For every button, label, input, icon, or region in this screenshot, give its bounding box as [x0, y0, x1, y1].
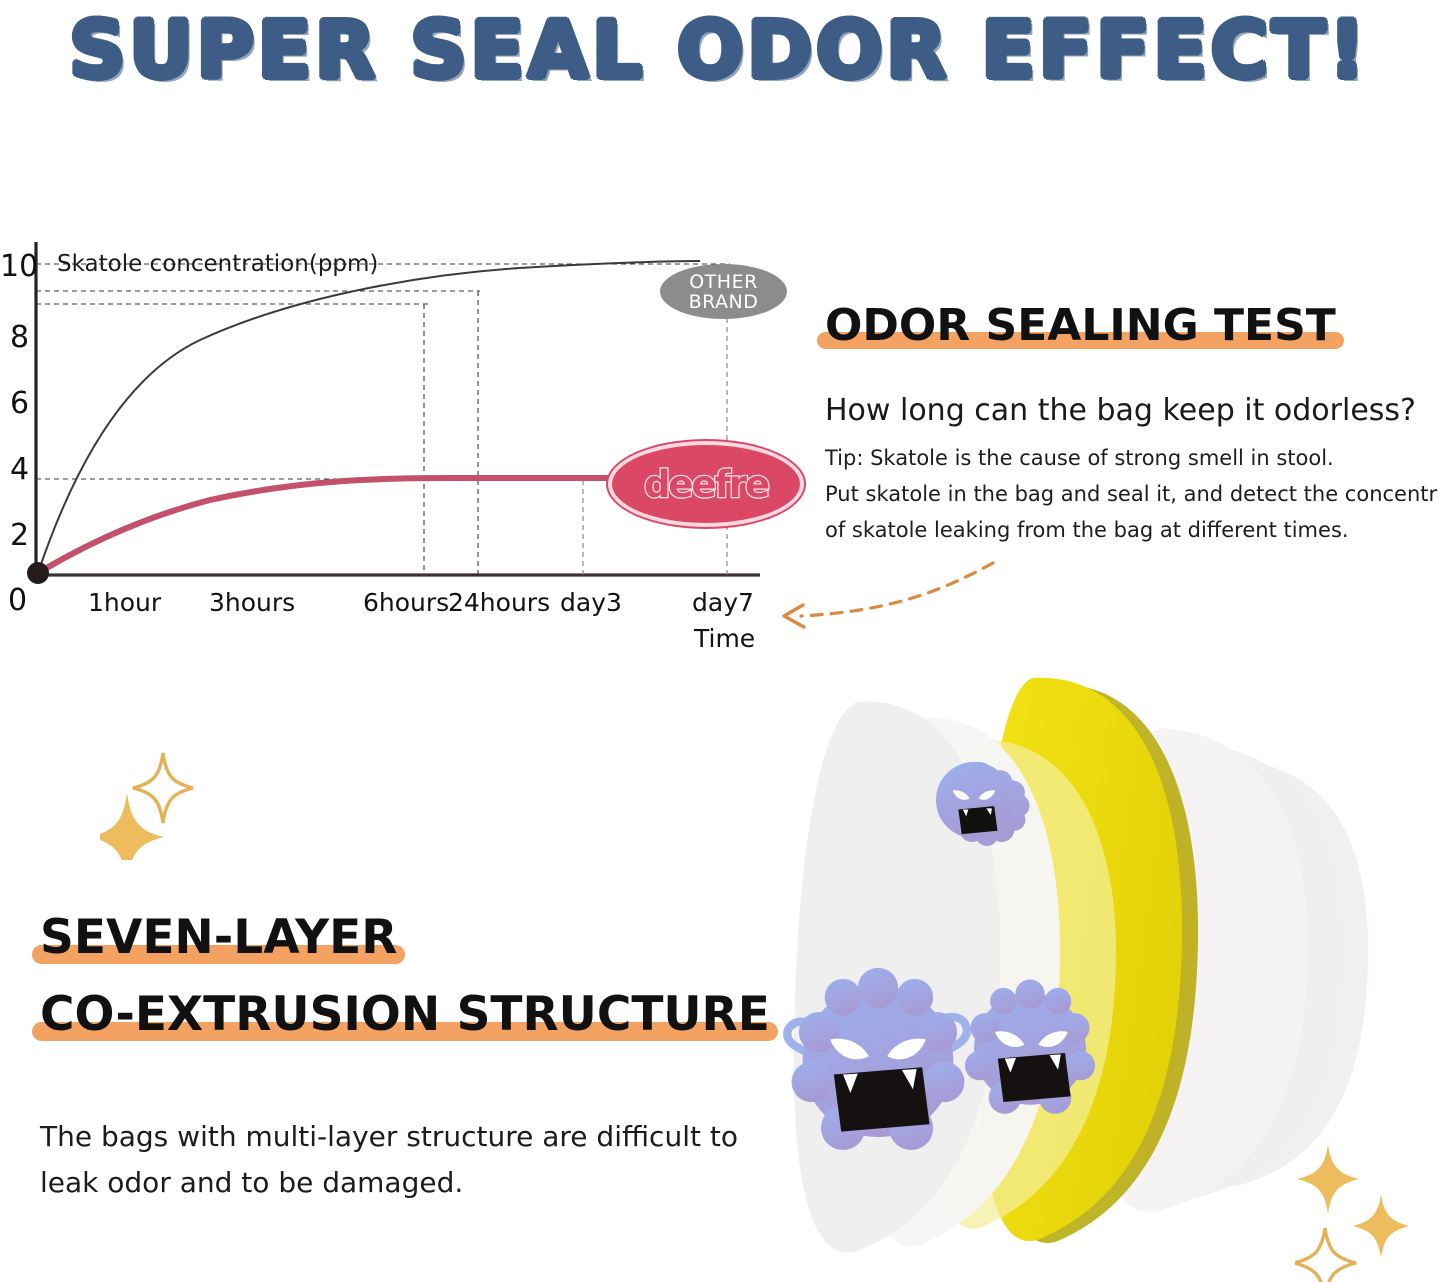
y-tick-4: 4 — [10, 452, 29, 487]
structure-body: The bags with multi-layer structure are … — [40, 1114, 840, 1206]
x-axis-label: Time — [694, 624, 755, 653]
page-title: SUPER SEAL ODOR EFFECT! — [0, 6, 1438, 96]
x-tick-6hours: 6hours — [363, 588, 449, 617]
structure-body-line-1: The bags with multi-layer structure are … — [40, 1114, 840, 1160]
sparkle-cluster-left — [100, 745, 220, 860]
x-tick-1hour: 1hour — [88, 588, 161, 617]
structure-heading-1-text: SEVEN-LAYER — [40, 910, 397, 965]
y-tick-0: 0 — [8, 583, 27, 618]
legend-other-brand-line2: BRAND — [689, 292, 759, 312]
structure-heading-line-2: CO-EXTRUSION STRUCTURE — [40, 987, 770, 1042]
odor-body-line-2: Put skatole in the bag and seal it, and … — [825, 476, 1425, 512]
x-tick-24hours: 24hours — [448, 588, 550, 617]
sparkle-solid-icon-1 — [1297, 1144, 1359, 1214]
odor-sealing-test-block: ODOR SEALING TEST How long can the bag k… — [825, 300, 1425, 548]
structure-heading-line-1: SEVEN-LAYER — [40, 910, 397, 965]
origin-point — [27, 562, 49, 584]
odor-body-line-3: of skatole leaking from the bag at diffe… — [825, 512, 1425, 548]
deefre-wordmark: deefre — [644, 463, 768, 506]
infographic-page: SUPER SEAL ODOR EFFECT! Skatole concent — [0, 0, 1438, 1280]
odor-heading: ODOR SEALING TEST — [825, 300, 1336, 351]
chart-axis-caption: Skatole concentration(ppm) — [57, 251, 378, 277]
y-tick-2: 2 — [10, 518, 29, 553]
structure-heading-2-text: CO-EXTRUSION STRUCTURE — [40, 987, 770, 1042]
legend-other-brand-line1: OTHER — [689, 272, 759, 292]
x-tick-day7: day7 — [692, 588, 754, 617]
y-tick-8: 8 — [10, 320, 29, 355]
odor-heading-text: ODOR SEALING TEST — [825, 300, 1336, 351]
legend-deefre-logo: deefre — [608, 441, 804, 527]
series-deefre-line — [38, 478, 660, 573]
sparkle-solid-icon-2 — [1353, 1194, 1409, 1258]
y-tick-10: 10 — [0, 249, 38, 284]
x-tick-3hours: 3hours — [209, 588, 295, 617]
odor-body-line-1: Tip: Skatole is the cause of strong smel… — [825, 440, 1425, 476]
curved-arrow-icon — [755, 545, 1005, 645]
y-tick-6: 6 — [10, 386, 29, 421]
sparkle-outline-icon-2 — [1295, 1228, 1356, 1282]
sparkle-outline-icon — [133, 753, 193, 823]
sparkle-cluster-right — [1295, 1142, 1425, 1282]
legend-other-brand: OTHER BRAND — [660, 264, 787, 319]
odor-body: Tip: Skatole is the cause of strong smel… — [825, 440, 1425, 548]
seven-layer-block: SEVEN-LAYER CO-EXTRUSION STRUCTURE The b… — [40, 910, 840, 1206]
structure-body-line-2: leak odor and to be damaged. — [40, 1160, 840, 1206]
sparkle-solid-icon — [100, 793, 164, 860]
odor-question: How long can the bag keep it odorless? — [825, 393, 1425, 428]
x-tick-day3: day3 — [560, 588, 622, 617]
